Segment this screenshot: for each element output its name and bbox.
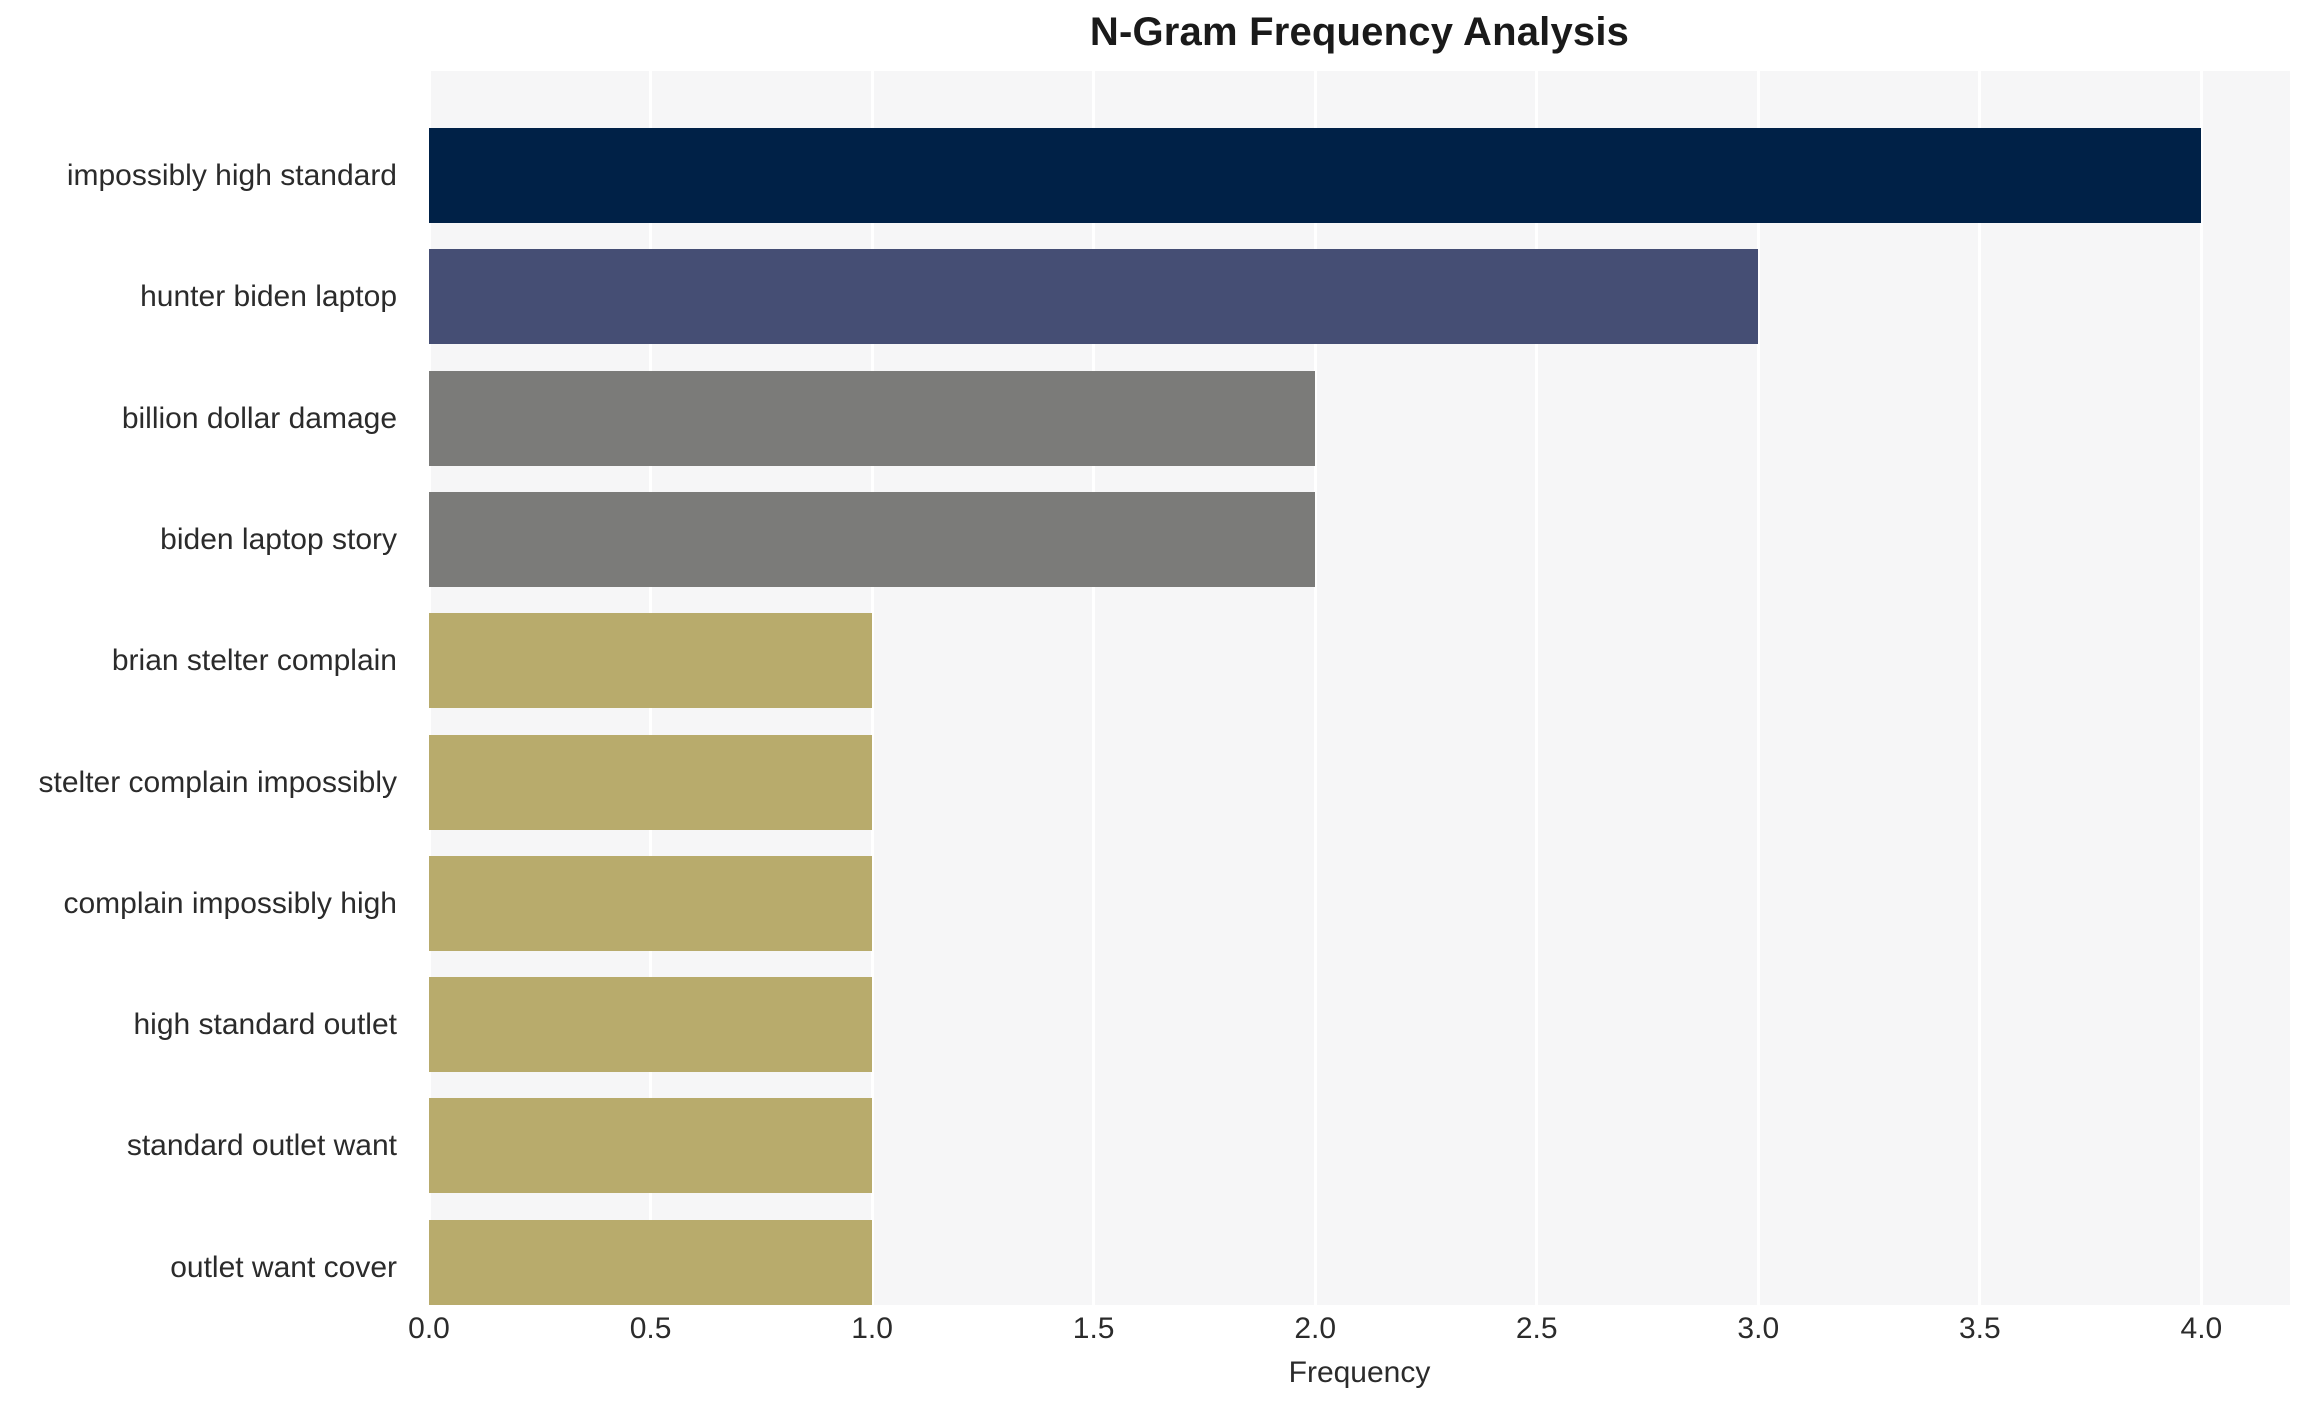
gridline-x — [1978, 71, 1981, 1305]
x-axis-tick-label: 1.5 — [1034, 1312, 1154, 1346]
x-axis-tick-label: 3.5 — [1920, 1312, 2040, 1346]
bar[interactable] — [429, 492, 1315, 587]
bar[interactable] — [429, 249, 1758, 344]
y-axis-tick-label: biden laptop story — [0, 492, 413, 587]
y-axis-tick-label: brian stelter complain — [0, 613, 413, 708]
x-axis-tick-label: 0.0 — [369, 1312, 489, 1346]
bar[interactable] — [429, 128, 2201, 223]
y-axis-tick-label: outlet want cover — [0, 1220, 413, 1315]
chart-figure: N-Gram Frequency Analysis impossibly hig… — [0, 0, 2308, 1402]
y-axis-tick-label: billion dollar damage — [0, 371, 413, 466]
gridline-x — [2200, 71, 2203, 1305]
x-axis-tick-label: 4.0 — [2141, 1312, 2261, 1346]
bar[interactable] — [429, 1098, 872, 1193]
bar[interactable] — [429, 371, 1315, 466]
x-axis-tick-label: 3.0 — [1698, 1312, 1818, 1346]
y-axis-tick-label: high standard outlet — [0, 977, 413, 1072]
bar[interactable] — [429, 856, 872, 951]
bar[interactable] — [429, 613, 872, 708]
x-axis-label: Frequency — [429, 1356, 2290, 1390]
x-axis-tick-label: 1.0 — [812, 1312, 932, 1346]
bar[interactable] — [429, 735, 872, 830]
y-axis-tick-label: impossibly high standard — [0, 128, 413, 223]
x-axis-tick-label: 2.0 — [1255, 1312, 1375, 1346]
bar[interactable] — [429, 1220, 872, 1305]
plot-area — [429, 71, 2290, 1305]
y-axis-tick-label: complain impossibly high — [0, 856, 413, 951]
y-axis-tick-label: stelter complain impossibly — [0, 735, 413, 830]
x-axis-tick-label: 2.5 — [1477, 1312, 1597, 1346]
chart-title: N-Gram Frequency Analysis — [429, 4, 2290, 60]
y-axis-tick-label: standard outlet want — [0, 1098, 413, 1193]
bar[interactable] — [429, 977, 872, 1072]
x-axis-tick-label: 0.5 — [591, 1312, 711, 1346]
y-axis-tick-label: hunter biden laptop — [0, 249, 413, 344]
